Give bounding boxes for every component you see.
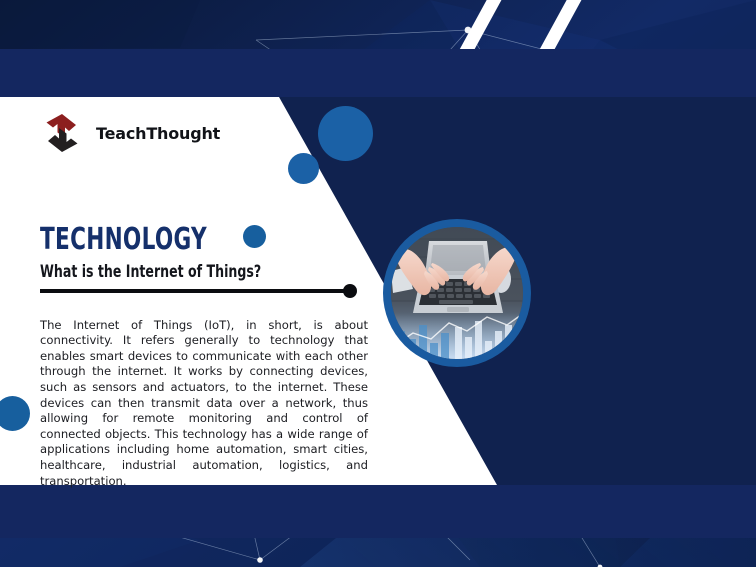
slide-canvas: TeachThought TECHNOLOGY What is the Inte… bbox=[0, 0, 756, 567]
brand-logo: TeachThought bbox=[38, 112, 220, 154]
decorative-circle-medium bbox=[288, 153, 319, 184]
section-divider-end-dot bbox=[343, 284, 357, 298]
brand-name: TeachThought bbox=[96, 124, 220, 143]
laptop-photo-ring bbox=[383, 219, 531, 367]
section-divider-rule bbox=[40, 289, 352, 293]
teachthought-logo-icon bbox=[38, 112, 86, 154]
page-subtitle: What is the Internet of Things? bbox=[40, 262, 261, 282]
navy-band-bottom bbox=[0, 485, 756, 538]
laptop-typing-photo-icon bbox=[391, 227, 523, 359]
body-paragraph: The Internet of Things (IoT), in short, … bbox=[40, 318, 368, 490]
page-title: TECHNOLOGY bbox=[40, 222, 207, 257]
decorative-circle-large bbox=[318, 106, 373, 161]
laptop-typing-photo bbox=[391, 227, 523, 359]
navy-band-top bbox=[0, 49, 756, 97]
decorative-circle-small bbox=[243, 225, 266, 248]
